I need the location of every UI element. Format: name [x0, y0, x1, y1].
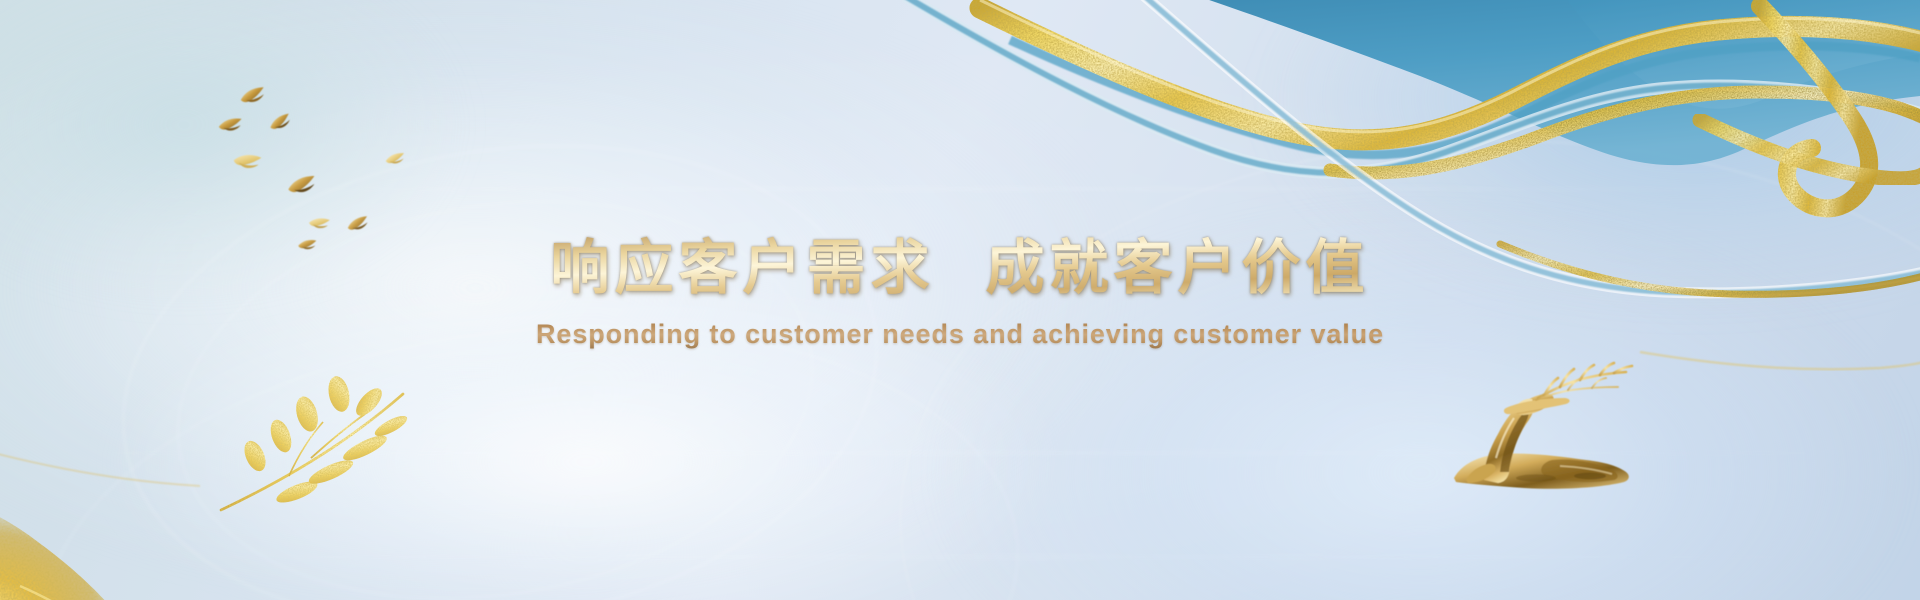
hero-banner: 响应客户需求 成就客户价值 Responding to customer nee…	[0, 0, 1920, 600]
gold-glitter-leaf-branch	[215, 360, 415, 520]
banner-text-block: 响应客户需求 成就客户价值 Responding to customer nee…	[0, 236, 1920, 350]
banner-headline: 响应客户需求 成就客户价值	[0, 236, 1920, 300]
banner-subheadline: Responding to customer needs and achievi…	[0, 319, 1920, 350]
flying-birds-flock	[200, 85, 440, 255]
golden-deer-sculpture	[1440, 360, 1640, 500]
